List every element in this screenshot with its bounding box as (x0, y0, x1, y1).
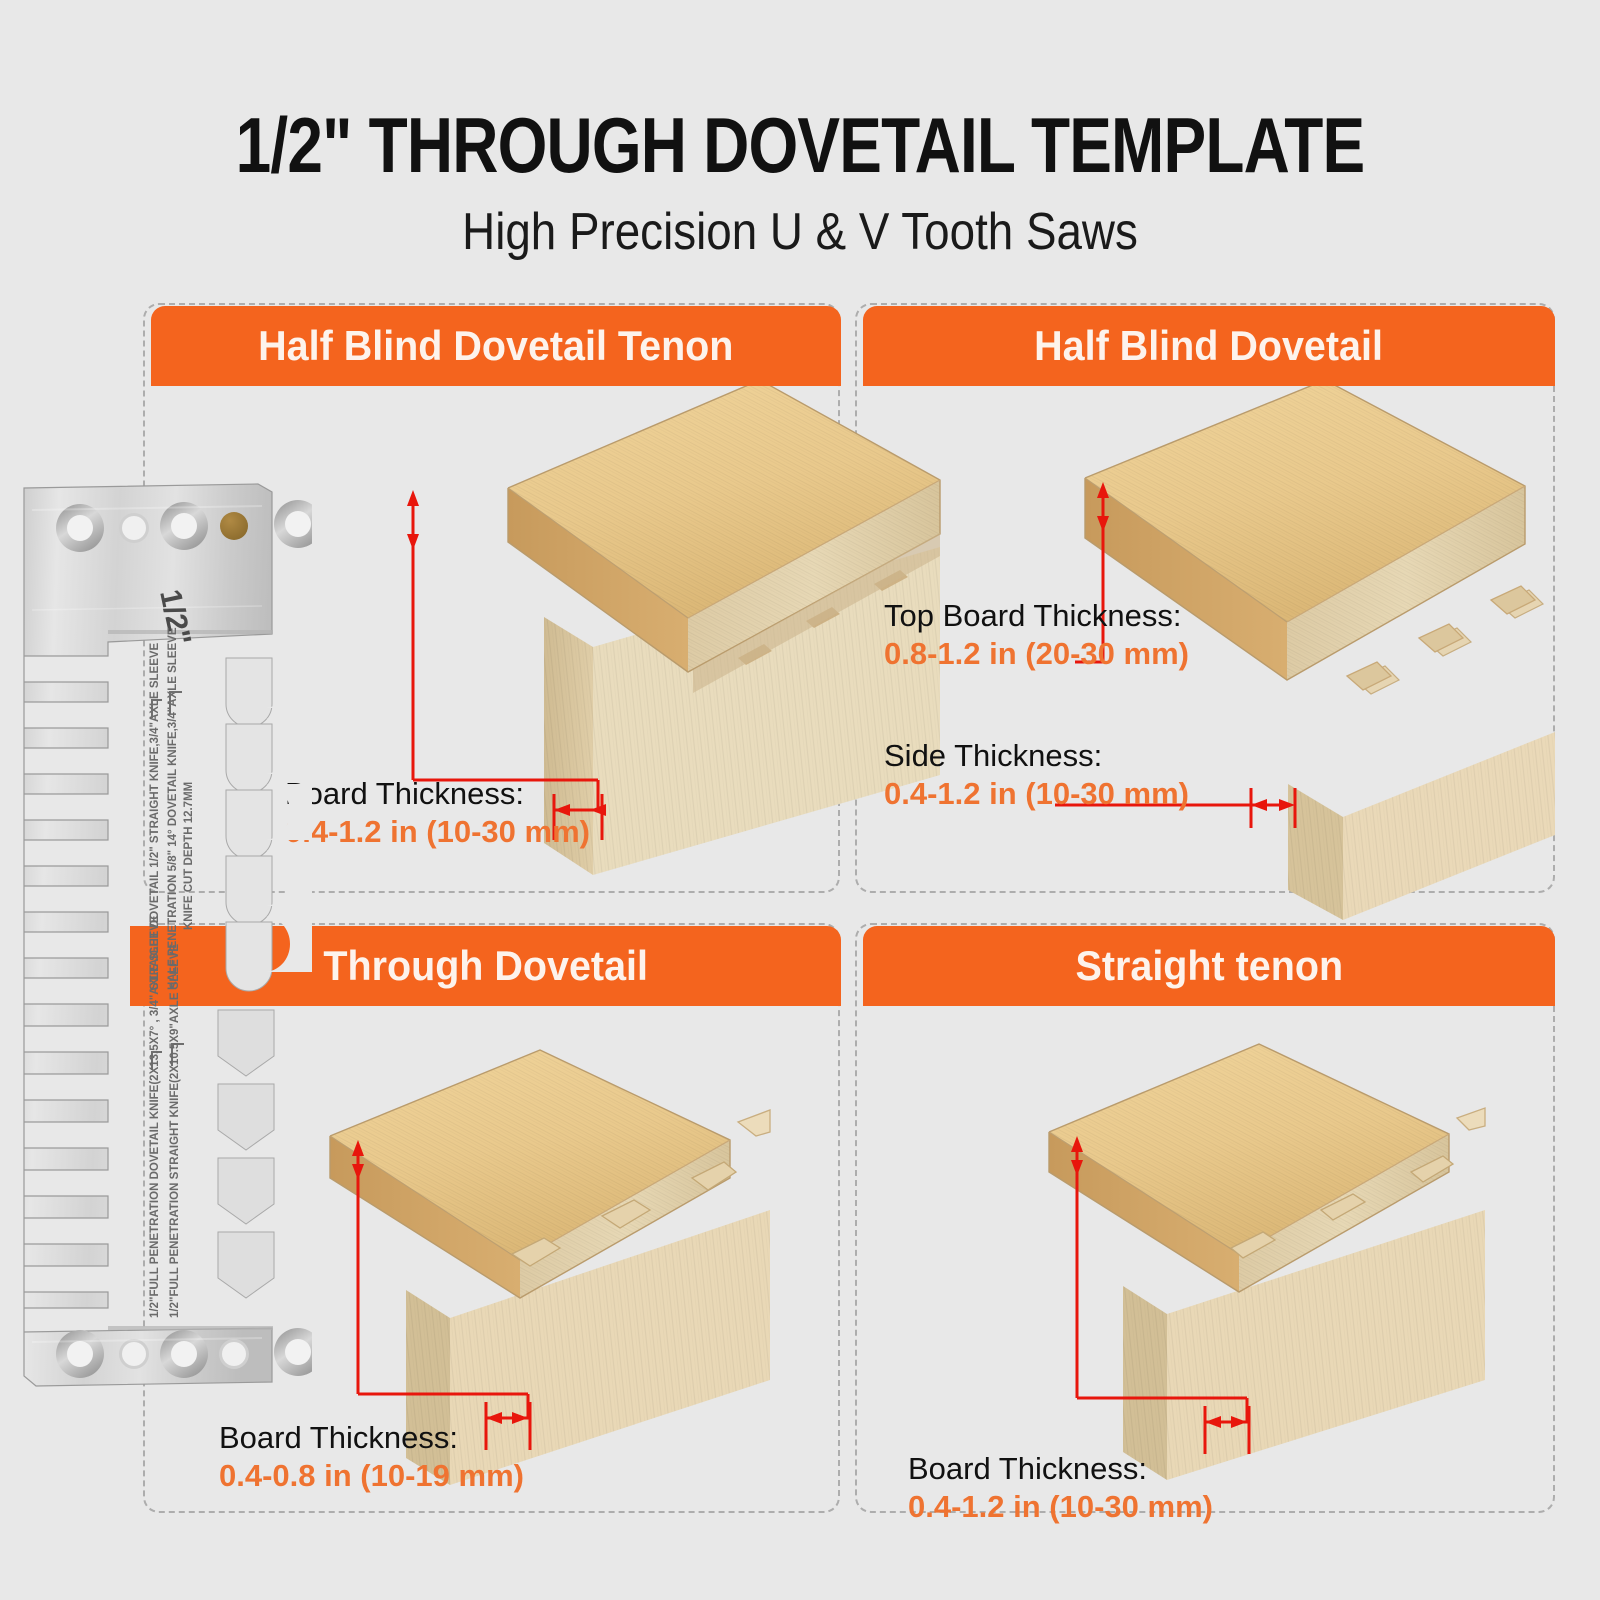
annotation-board-thickness-bl: Board Thickness: 0.4-0.8 in (10-19 mm) (219, 1419, 524, 1496)
annotation-value: 0.4-1.2 in (10-30 mm) (908, 1488, 1213, 1526)
annotation-board-thickness-tl: Board Thickness: 0.4-1.2 in (10-30 mm) (285, 775, 590, 852)
annotation-label: Board Thickness: (285, 775, 590, 813)
annotation-label: Top Board Thickness: (884, 597, 1189, 635)
v-teeth (218, 1010, 274, 1298)
annotation-value: 0.4-1.2 in (10-30 mm) (285, 813, 590, 851)
banner-label: Straight tenon (1075, 942, 1343, 990)
annotation-label: Side Thickness: (884, 737, 1189, 775)
mounting-holes-bottom[interactable] (56, 1328, 312, 1378)
banner-label: Half Blind Dovetail (1035, 322, 1384, 370)
brass-pin-icon (220, 512, 248, 540)
svg-text:KNIFE CUT DEPTH 12.7MM: KNIFE CUT DEPTH 12.7MM (183, 782, 195, 930)
svg-text:HALF PENETRATION 5/8" 14° DOV: HALF PENETRATION 5/8" 14° DOVETAIL KNIFE… (167, 627, 179, 990)
svg-text:1/2"FULL PENETRATION STRAIGHT: 1/2"FULL PENETRATION STRAIGHT KNIFE(2X10… (169, 944, 181, 1318)
annotation-board-thickness-br: Board Thickness: 0.4-1.2 in (10-30 mm) (908, 1450, 1213, 1527)
banner-half-blind-dovetail: Half Blind Dovetail (863, 306, 1555, 386)
svg-text:1/2"FULL PENETRATION DOVETAIL: 1/2"FULL PENETRATION DOVETAIL KNIFE(2X13… (149, 915, 161, 1318)
annotation-value: 0.8-1.2 in (20-30 mm) (884, 635, 1189, 673)
annotation-label: Board Thickness: (219, 1419, 524, 1457)
page-subtitle: High Precision U & V Tooth Saws (96, 202, 1504, 262)
banner-label: Through Dovetail (323, 942, 648, 990)
dovetail-template-jig[interactable]: 1/2" STRAIGHT DOVETAIL 1/2" STRAIGHT KNI… (12, 470, 312, 1400)
annotation-side-thickness: Side Thickness: 0.4-1.2 in (10-30 mm) (884, 737, 1189, 814)
banner-label: Half Blind Dovetail Tenon (258, 322, 733, 370)
annotation-top-board-thickness: Top Board Thickness: 0.8-1.2 in (20-30 m… (884, 597, 1189, 674)
jig-engraving-lower: 1/2"FULL PENETRATION DOVETAIL KNIFE(2X13… (149, 915, 181, 1318)
annotation-value: 0.4-1.2 in (10-30 mm) (884, 775, 1189, 813)
u-teeth (226, 658, 272, 991)
page-title: 1/2" THROUGH DOVETAIL TEMPLATE (144, 100, 1456, 191)
header: 1/2" THROUGH DOVETAIL TEMPLATE High Prec… (0, 0, 1600, 285)
banner-half-blind-dovetail-tenon: Half Blind Dovetail Tenon (151, 306, 841, 386)
annotation-value: 0.4-0.8 in (10-19 mm) (219, 1457, 524, 1495)
wood-block-straight-tenon (1015, 1030, 1555, 1510)
annotation-label: Board Thickness: (908, 1450, 1213, 1488)
banner-straight-tenon: Straight tenon (863, 926, 1555, 1006)
